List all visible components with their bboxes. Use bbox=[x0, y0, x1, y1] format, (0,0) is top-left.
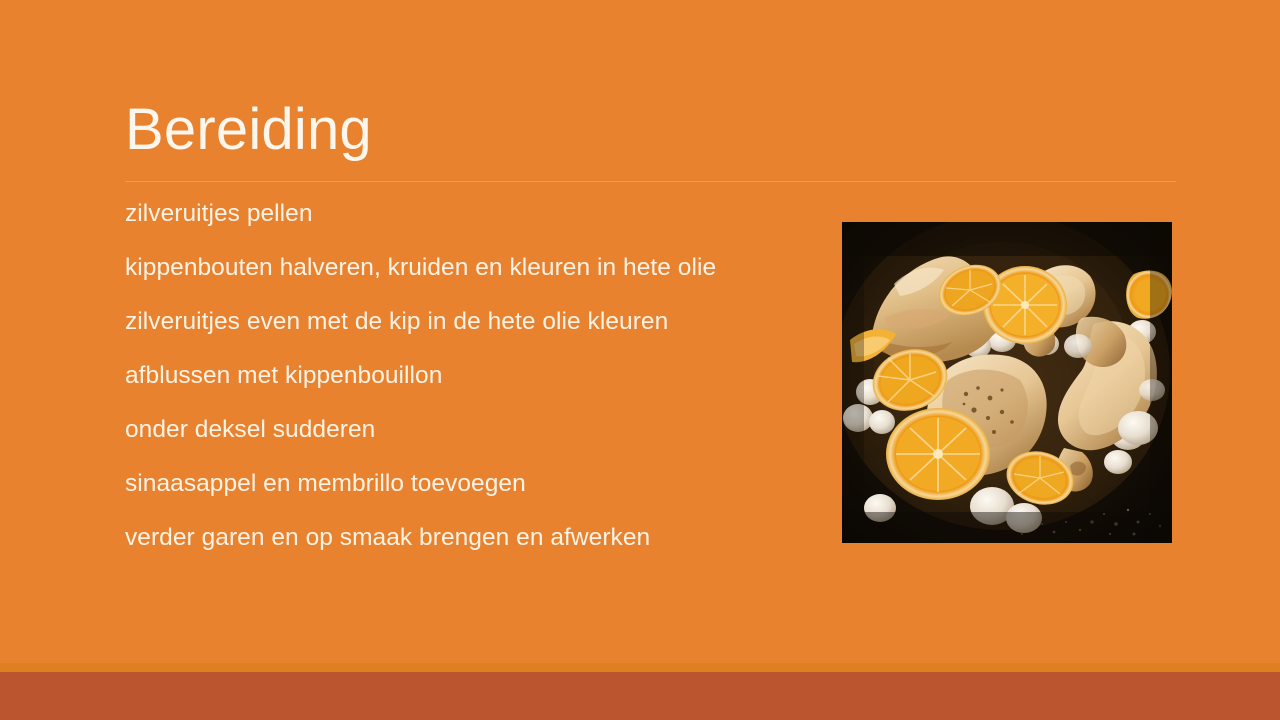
title-divider bbox=[125, 181, 1176, 182]
list-item: kippenbouten halveren, kruiden en kleure… bbox=[125, 252, 815, 283]
list-item: afblussen met kippenbouillon bbox=[125, 360, 815, 391]
slide-canvas: Bereiding zilveruitjes pellen kippenbout… bbox=[0, 0, 1280, 720]
accent-band-gold bbox=[0, 663, 1280, 672]
list-item: zilveruitjes even met de kip in de hete … bbox=[125, 306, 815, 337]
page-title: Bereiding bbox=[125, 97, 1176, 164]
footer-band-brown bbox=[0, 672, 1280, 720]
bullet-list: zilveruitjes pellen kippenbouten halvere… bbox=[125, 198, 815, 553]
list-item: onder deksel sudderen bbox=[125, 414, 815, 445]
list-item: verder garen en op smaak brengen en afwe… bbox=[125, 522, 815, 553]
list-item: sinaasappel en membrillo toevoegen bbox=[125, 468, 815, 499]
list-item: zilveruitjes pellen bbox=[125, 198, 815, 229]
dish-photo bbox=[842, 222, 1172, 543]
title-block: Bereiding bbox=[125, 97, 1176, 164]
